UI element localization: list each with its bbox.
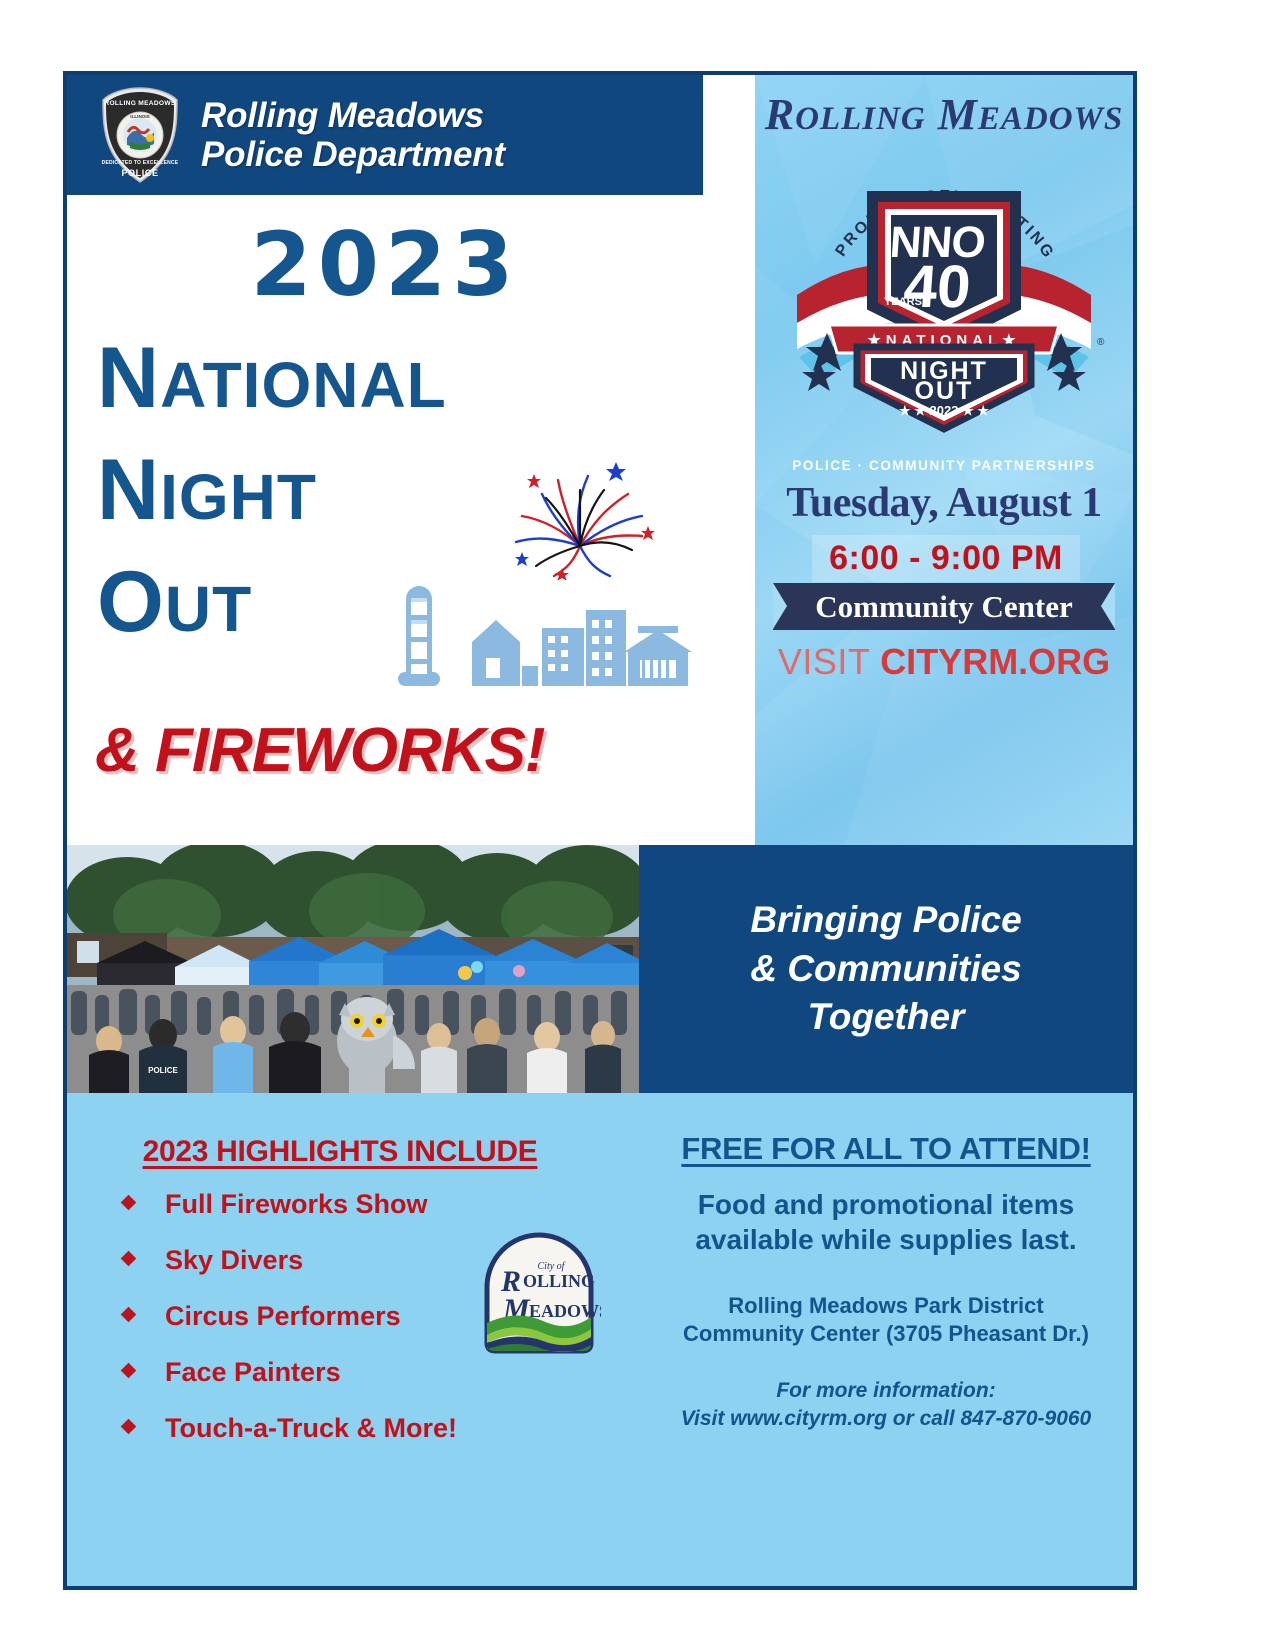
bottom-section: 2023 HIGHLIGHTS INCLUDE Full Fireworks S… — [67, 1093, 1133, 1586]
title-word-out: OUT — [97, 559, 252, 645]
department-title-line2: Police Department — [201, 135, 505, 174]
list-item-label: Face Painters — [165, 1357, 341, 1387]
svg-text:ILLINOIS: ILLINOIS — [130, 114, 149, 119]
svg-text:40: 40 — [902, 253, 973, 320]
event-time: 6:00 - 9:00 PM — [829, 539, 1063, 578]
list-item: Touch-a-Truck & More! — [123, 1415, 639, 1442]
slogan-line3: Together — [808, 993, 965, 1042]
diamond-bullet-icon — [121, 1251, 137, 1267]
food-note: Food and promotional items available whi… — [655, 1187, 1117, 1258]
highlights-title: 2023 HIGHLIGHTS INCLUDE — [67, 1135, 639, 1169]
event-year: 2023 — [67, 213, 703, 316]
svg-text:OUT: OUT — [915, 377, 974, 405]
venue-address-line2: Community Center (3705 Pheasant Dr.) — [655, 1320, 1117, 1349]
list-item: Face Painters — [123, 1359, 639, 1386]
diamond-bullet-icon — [121, 1195, 137, 1211]
more-information-line2[interactable]: Visit www.cityrm.org or call 847-870-906… — [655, 1405, 1117, 1433]
svg-text:ROLLING MEADOWS: ROLLING MEADOWS — [104, 100, 175, 107]
list-item-label: Circus Performers — [165, 1301, 401, 1331]
visit-prefix: VISIT — [778, 641, 880, 682]
visit-website-line[interactable]: VISIT CITYRM.ORG — [755, 641, 1133, 683]
svg-text:YEARS: YEARS — [884, 296, 922, 308]
venue-address-line1: Rolling Meadows Park District — [655, 1292, 1117, 1321]
top-section: ROLLING MEADOWS ILLINOIS DEDICATED TO EX… — [67, 75, 1133, 845]
details-panel: FREE FOR ALL TO ATTEND! Food and promoti… — [639, 1093, 1133, 1586]
department-title: Rolling Meadows Police Department — [201, 96, 505, 174]
list-item: Full Fireworks Show — [123, 1191, 639, 1218]
list-item-label: Full Fireworks Show — [165, 1189, 428, 1219]
event-date: Tuesday, August 1 — [755, 479, 1133, 527]
fireworks-burst-icon — [492, 450, 668, 580]
title-word-night: NIGHT — [97, 447, 317, 533]
fireworks-headline: & FIREWORKS! — [95, 715, 695, 786]
visit-url[interactable]: CITYRM.ORG — [880, 641, 1110, 682]
more-information-line1: For more information: — [655, 1377, 1117, 1405]
event-info-panel: ROLLING MEADOWS PROUDLY CELEBRATING — [755, 75, 1133, 845]
svg-text:POLICE: POLICE — [121, 168, 158, 178]
event-title-block: 2023 NATIONAL NIGHT OUT — [67, 195, 703, 845]
police-badge-icon: ROLLING MEADOWS ILLINOIS DEDICATED TO EX… — [97, 86, 183, 184]
event-time-band: 6:00 - 9:00 PM — [812, 535, 1080, 582]
nno-tagline: POLICE · COMMUNITY PARTNERSHIPS — [755, 458, 1133, 473]
slogan-line2: & Communities — [750, 945, 1021, 994]
event-venue-ribbon: Community Center — [773, 583, 1115, 630]
title-word-national: NATIONAL — [97, 335, 447, 421]
svg-text:★ ★ 2023 ★ ★: ★ ★ 2023 ★ ★ — [899, 403, 989, 418]
venue-address: Rolling Meadows Park District Community … — [655, 1292, 1117, 1349]
flyer-frame: ROLLING MEADOWS ILLINOIS DEDICATED TO EX… — [63, 71, 1137, 1590]
svg-text:DEDICATED TO EXCELLENCE: DEDICATED TO EXCELLENCE — [102, 160, 179, 166]
event-venue: Community Center — [815, 589, 1072, 625]
department-title-line1: Rolling Meadows — [201, 96, 505, 135]
event-photo: POLICE — [67, 845, 639, 1093]
city-skyline-icon — [392, 580, 692, 695]
list-item-label: Touch-a-Truck & More! — [165, 1413, 457, 1443]
diamond-bullet-icon — [121, 1363, 137, 1379]
food-note-line1: Food and promotional items — [655, 1187, 1117, 1222]
diamond-bullet-icon — [121, 1419, 137, 1435]
ribbon-notch-right — [1101, 583, 1115, 629]
svg-text:OLLING: OLLING — [523, 1271, 595, 1291]
department-header: ROLLING MEADOWS ILLINOIS DEDICATED TO EX… — [67, 75, 703, 195]
slogan-line1: Bringing Police — [750, 896, 1021, 945]
city-of-rolling-meadows-seal-icon: City of R OLLING M EADOWS — [477, 1225, 601, 1357]
city-script-logo: ROLLING MEADOWS — [755, 89, 1133, 140]
food-note-line2: available while supplies last. — [655, 1222, 1117, 1257]
title-column: ROLLING MEADOWS ILLINOIS DEDICATED TO EX… — [67, 75, 703, 845]
ribbon-notch-left — [773, 583, 787, 629]
more-information: For more information: Visit www.cityrm.o… — [655, 1377, 1117, 1434]
diamond-bullet-icon — [121, 1307, 137, 1323]
list-item-label: Sky Divers — [165, 1245, 303, 1275]
flyer-page: ROLLING MEADOWS ILLINOIS DEDICATED TO EX… — [0, 0, 1275, 1650]
svg-text:POLICE: POLICE — [148, 1066, 178, 1075]
svg-text:®: ® — [1097, 337, 1105, 348]
nno-40-years-logo: PROUDLY CELEBRATING — [779, 147, 1109, 437]
photo-slogan-section: POLICE — [67, 845, 1133, 1093]
highlights-panel: 2023 HIGHLIGHTS INCLUDE Full Fireworks S… — [67, 1093, 639, 1586]
slogan-block: Bringing Police & Communities Together — [639, 845, 1133, 1093]
free-admission-title: FREE FOR ALL TO ATTEND! — [655, 1131, 1117, 1167]
